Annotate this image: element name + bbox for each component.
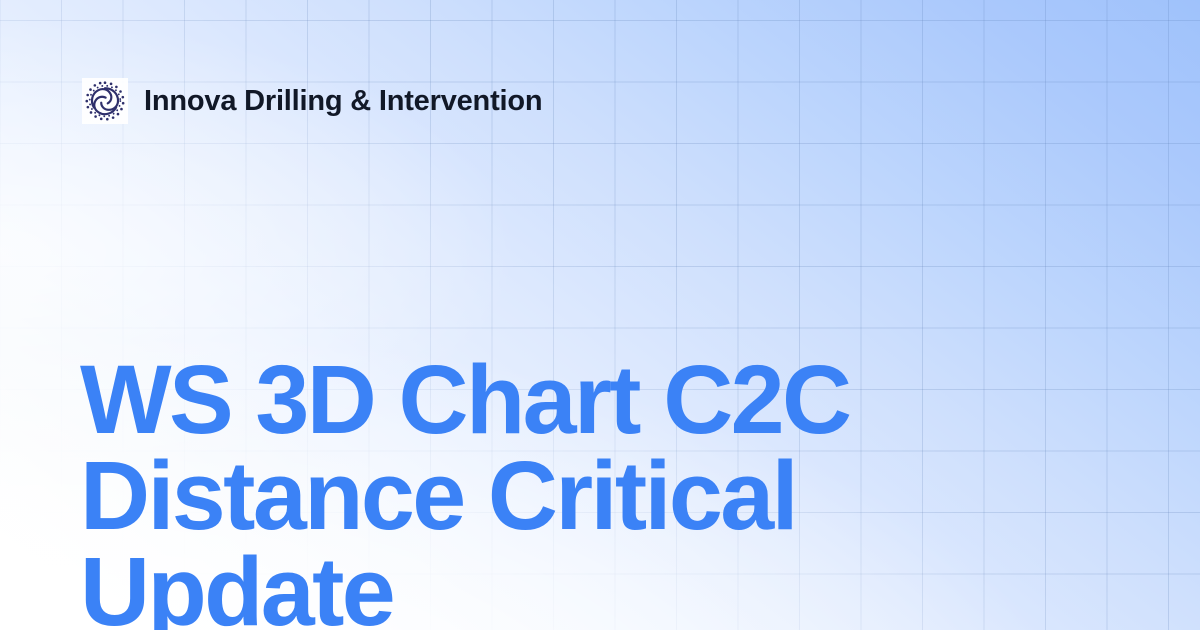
og-banner-card: Innova Drilling & Intervention WS 3D Cha… (0, 0, 1200, 630)
page-title: WS 3D Chart C2C Distance Critical Update (80, 352, 1120, 630)
innova-spiral-gear-logo-icon (82, 78, 128, 124)
card-content: Innova Drilling & Intervention WS 3D Cha… (0, 0, 1200, 630)
brand-name: Innova Drilling & Intervention (144, 87, 542, 116)
brand-lockup: Innova Drilling & Intervention (82, 78, 542, 124)
